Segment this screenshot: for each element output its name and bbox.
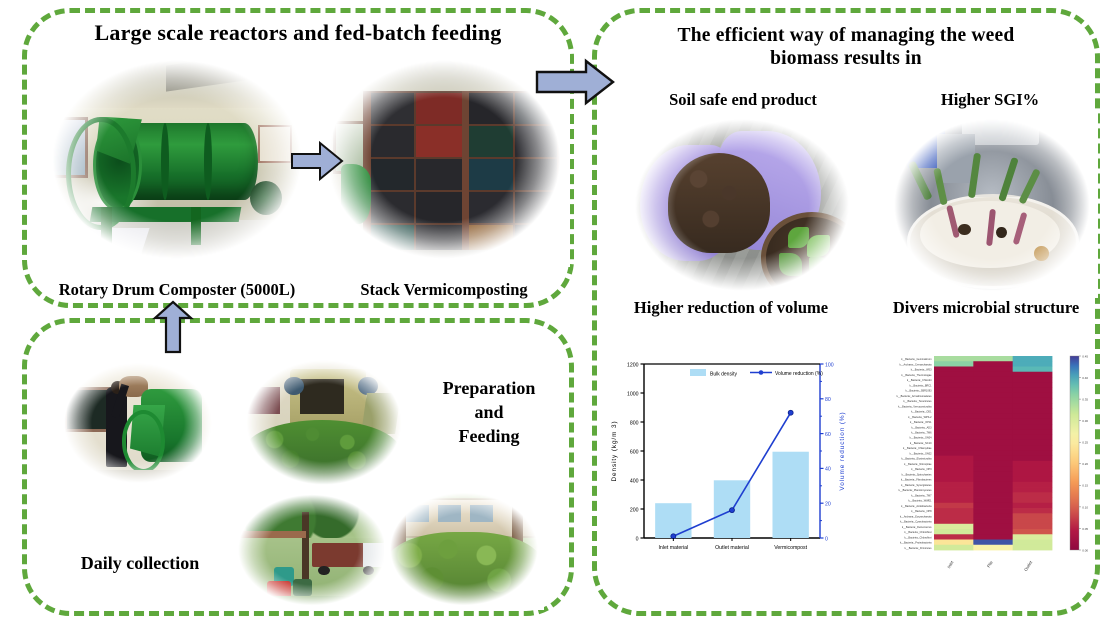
svg-text:k__Archaea;_Crenarchaeota: k__Archaea;_Crenarchaeota xyxy=(900,363,933,366)
svg-text:800: 800 xyxy=(630,420,639,426)
rotary-drum-composter-photo xyxy=(42,52,312,267)
svg-text:40: 40 xyxy=(825,467,831,473)
petri-dish-seed-germination-photo xyxy=(886,112,1098,298)
svg-text:1200: 1200 xyxy=(627,362,639,368)
svg-text:k__Bacteria;_OP3: k__Bacteria;_OP3 xyxy=(911,468,932,471)
truck-collection-photo xyxy=(232,490,392,610)
caption-stack-vermicomposting: Stack Vermicomposting xyxy=(316,280,572,300)
svg-text:Bulk density: Bulk density xyxy=(710,371,737,377)
svg-text:k__Bacteria;_Cyanobacteria: k__Bacteria;_Cyanobacteria xyxy=(900,521,932,524)
svg-text:Outlet: Outlet xyxy=(1023,559,1034,572)
svg-text:100: 100 xyxy=(825,362,834,368)
svg-text:k__Bacteria;_Chloroflexi: k__Bacteria;_Chloroflexi xyxy=(904,536,932,539)
svg-text:k__Bacteria;_Acidobacteria: k__Bacteria;_Acidobacteria xyxy=(901,505,932,508)
svg-text:400: 400 xyxy=(630,478,639,484)
right-title-line-2: biomass results in xyxy=(770,48,922,69)
volume-reduction-chart: 020040060080010001200020406080100Inlet m… xyxy=(604,348,860,580)
svg-text:k__Bacteria;_Nitrospirae: k__Bacteria;_Nitrospirae xyxy=(904,463,932,466)
svg-text:k__Bacteria;_BRC1: k__Bacteria;_BRC1 xyxy=(910,384,933,387)
svg-text:0.10: 0.10 xyxy=(1082,505,1088,509)
svg-text:0.30: 0.30 xyxy=(1082,419,1088,423)
caption-higher-reduction-of-volume: Higher reduction of volume xyxy=(600,298,862,318)
svg-text:k__Bacteria;_Fibrobacteres: k__Bacteria;_Fibrobacteres xyxy=(901,479,932,482)
svg-text:k__Bacteria;_SBR1093: k__Bacteria;_SBR1093 xyxy=(906,390,933,393)
svg-text:0.45: 0.45 xyxy=(1082,354,1088,358)
svg-text:0.35: 0.35 xyxy=(1082,398,1088,402)
caption-soil-safe-end-product: Soil safe end product xyxy=(622,90,864,110)
svg-text:k__Bacteria;_OP8: k__Bacteria;_OP8 xyxy=(911,510,932,513)
svg-text:k__Bacteria;_Elusimicrobia: k__Bacteria;_Elusimicrobia xyxy=(901,458,932,461)
svg-text:Inlet: Inlet xyxy=(946,559,955,569)
svg-text:Volume reduction (%): Volume reduction (%) xyxy=(839,411,846,490)
stack-vermicomposting-photo xyxy=(318,52,570,267)
label-and: and xyxy=(414,402,564,424)
svg-text:0.40: 0.40 xyxy=(1082,376,1088,380)
label-feeding: Feeding xyxy=(414,426,564,448)
gloved-hands-holding-compost-photo xyxy=(626,112,858,298)
svg-text:60: 60 xyxy=(825,432,831,438)
svg-text:k__Bacteria;_OP11: k__Bacteria;_OP11 xyxy=(910,421,932,424)
svg-text:0.15: 0.15 xyxy=(1082,484,1088,488)
svg-text:20: 20 xyxy=(825,502,831,508)
label-daily-collection: Daily collection xyxy=(50,553,230,575)
loading-drum-photo xyxy=(58,358,218,488)
label-preparation: Preparation xyxy=(414,378,564,400)
right-title-line-1: The efficient way of managing the weed xyxy=(678,25,1015,46)
caption-divers-microbial-structure: Divers microbial structure xyxy=(864,298,1108,318)
svg-text:0.00: 0.00 xyxy=(1082,548,1088,552)
svg-text:k__Bacteria;_Deinococcus: k__Bacteria;_Deinococcus xyxy=(902,526,932,529)
svg-text:k__Archaea;_Euryarchaeota: k__Archaea;_Euryarchaeota xyxy=(900,515,932,518)
svg-text:k__Bacteria;_Gemmatimon: k__Bacteria;_Gemmatimon xyxy=(901,358,932,361)
svg-text:Pile: Pile xyxy=(986,559,994,568)
svg-text:k__Bacteria;_TM7: k__Bacteria;_TM7 xyxy=(911,494,932,497)
svg-text:80: 80 xyxy=(825,397,831,403)
svg-text:k__Bacteria;_GN04: k__Bacteria;_GN04 xyxy=(910,437,932,440)
svg-text:k__Bacteria;_Verrucomicrobia: k__Bacteria;_Verrucomicrobia xyxy=(898,405,932,408)
svg-text:0: 0 xyxy=(825,536,828,542)
svg-text:0.25: 0.25 xyxy=(1082,441,1088,445)
svg-text:k__Bacteria;_GN02: k__Bacteria;_GN02 xyxy=(910,452,932,455)
svg-text:Inlet material: Inlet material xyxy=(658,545,688,551)
svg-text:k__Bacteria;_Thermotogae: k__Bacteria;_Thermotogae xyxy=(901,374,932,377)
svg-text:k__Bacteria;_Synergistetes: k__Bacteria;_Synergistetes xyxy=(901,484,932,487)
arrow-drum-to-stack xyxy=(290,140,344,182)
svg-text:Outlet material: Outlet material xyxy=(715,545,749,551)
svg-text:k__Bacteria;_Spirochaetes: k__Bacteria;_Spirochaetes xyxy=(902,473,933,476)
svg-text:k__Bacteria;_Firmicutes: k__Bacteria;_Firmicutes xyxy=(905,547,933,550)
svg-text:k__Bacteria;_NC10: k__Bacteria;_NC10 xyxy=(910,442,932,445)
weed-biomass-heap-photo xyxy=(384,488,544,610)
top-left-panel-title: Large scale reactors and fed-batch feedi… xyxy=(40,20,556,46)
svg-text:k__Bacteria;_Armatimonadetes: k__Bacteria;_Armatimonadetes xyxy=(897,395,933,398)
caption-higher-sgi: Higher SGI% xyxy=(890,90,1090,110)
svg-text:k__Bacteria;_Chlamydiae: k__Bacteria;_Chlamydiae xyxy=(903,447,932,450)
svg-text:600: 600 xyxy=(630,449,639,455)
svg-text:k__Bacteria;_Chloroflexi: k__Bacteria;_Chloroflexi xyxy=(904,531,932,534)
svg-text:Vermicompost: Vermicompost xyxy=(774,545,807,551)
svg-text:k__Bacteria;_Chlorobi: k__Bacteria;_Chlorobi xyxy=(907,379,932,382)
svg-text:k__Bacteria;_WPS-2: k__Bacteria;_WPS-2 xyxy=(908,416,932,419)
svg-text:0.05: 0.05 xyxy=(1082,527,1088,531)
svg-text:Volume reduction (%): Volume reduction (%) xyxy=(775,371,823,377)
svg-text:0.20: 0.20 xyxy=(1082,462,1088,466)
arrow-left-to-right-panel xyxy=(534,58,616,106)
svg-text:k__Bacteria;_OD1: k__Bacteria;_OD1 xyxy=(911,411,932,414)
caption-rotary-drum-composter: Rotary Drum Composter (5000L) xyxy=(32,280,322,300)
svg-text:200: 200 xyxy=(630,507,639,513)
shredder-with-chopped-weed-photo xyxy=(240,355,408,490)
svg-text:0: 0 xyxy=(636,536,639,542)
svg-text:k__Bacteria;_TM6: k__Bacteria;_TM6 xyxy=(911,431,932,434)
microbial-heatmap: k__Bacteria;_Gemmatimonk__Archaea;_Crena… xyxy=(872,348,1098,580)
svg-text:Density (kg/m 3): Density (kg/m 3) xyxy=(611,421,618,482)
svg-text:k__Bacteria;_Planctomycetes: k__Bacteria;_Planctomycetes xyxy=(899,489,933,492)
svg-text:k__Bacteria;_AD3: k__Bacteria;_AD3 xyxy=(911,426,932,429)
svg-text:k__Bacteria;_WWE1: k__Bacteria;_WWE1 xyxy=(908,500,932,503)
svg-text:k__Bacteria;_Tenericutes: k__Bacteria;_Tenericutes xyxy=(903,400,932,403)
svg-text:k__Bacteria;_WS3: k__Bacteria;_WS3 xyxy=(911,369,932,372)
graphical-abstract: Large scale reactors and fed-batch feedi… xyxy=(0,0,1120,625)
svg-text:k__Bacteria;_Proteobacteria: k__Bacteria;_Proteobacteria xyxy=(900,542,932,545)
svg-text:1000: 1000 xyxy=(627,391,639,397)
arrow-bottom-to-top-panel xyxy=(152,300,194,354)
right-panel-title: The efficient way of managing the weed b… xyxy=(606,24,1086,70)
